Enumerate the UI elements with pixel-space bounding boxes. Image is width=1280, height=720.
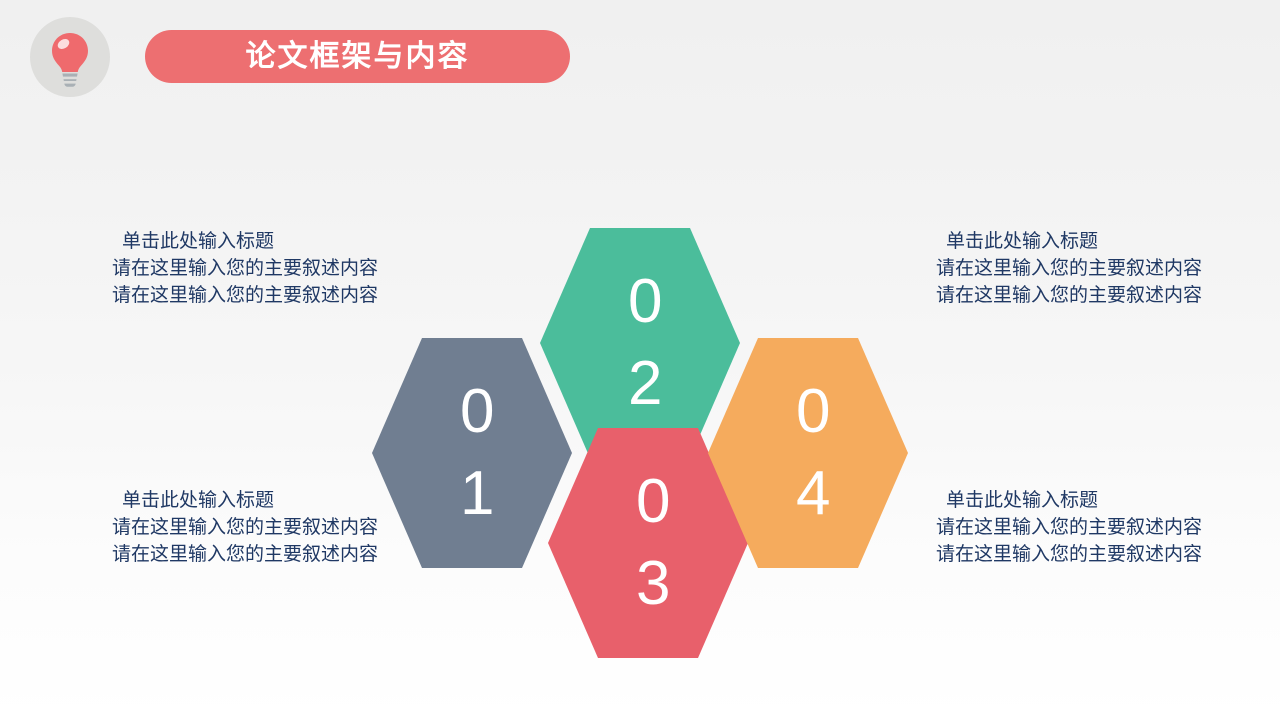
hexagon-01-number: 01 bbox=[455, 371, 499, 535]
hexagon-03-number: 03 bbox=[631, 461, 675, 625]
text-block-top-left-line1: 请在这里输入您的主要叙述内容 bbox=[112, 256, 378, 283]
hexagon-cluster: 01 02 03 04 bbox=[0, 0, 1280, 720]
text-block-bottom-right-line1: 请在这里输入您的主要叙述内容 bbox=[936, 515, 1202, 542]
text-block-bottom-left[interactable]: 单击此处输入标题 请在这里输入您的主要叙述内容 请在这里输入您的主要叙述内容 bbox=[112, 488, 378, 569]
hexagon-02[interactable]: 02 bbox=[540, 228, 740, 458]
text-block-top-right[interactable]: 单击此处输入标题 请在这里输入您的主要叙述内容 请在这里输入您的主要叙述内容 bbox=[936, 229, 1202, 310]
text-block-bottom-left-line2: 请在这里输入您的主要叙述内容 bbox=[112, 542, 378, 569]
text-block-bottom-right[interactable]: 单击此处输入标题 请在这里输入您的主要叙述内容 请在这里输入您的主要叙述内容 bbox=[936, 488, 1202, 569]
text-block-bottom-left-title: 单击此处输入标题 bbox=[112, 488, 378, 515]
text-block-top-right-title: 单击此处输入标题 bbox=[936, 229, 1202, 256]
hexagon-01[interactable]: 01 bbox=[372, 338, 572, 568]
text-block-top-left-line2: 请在这里输入您的主要叙述内容 bbox=[112, 283, 378, 310]
text-block-bottom-right-title: 单击此处输入标题 bbox=[936, 488, 1202, 515]
text-block-top-left-title: 单击此处输入标题 bbox=[112, 229, 378, 256]
text-block-bottom-left-line1: 请在这里输入您的主要叙述内容 bbox=[112, 515, 378, 542]
text-block-top-right-line1: 请在这里输入您的主要叙述内容 bbox=[936, 256, 1202, 283]
text-block-top-left[interactable]: 单击此处输入标题 请在这里输入您的主要叙述内容 请在这里输入您的主要叙述内容 bbox=[112, 229, 378, 310]
text-block-bottom-right-line2: 请在这里输入您的主要叙述内容 bbox=[936, 542, 1202, 569]
hexagon-02-number: 02 bbox=[623, 261, 667, 425]
text-block-top-right-line2: 请在这里输入您的主要叙述内容 bbox=[936, 283, 1202, 310]
hexagon-04-number: 04 bbox=[791, 371, 835, 535]
